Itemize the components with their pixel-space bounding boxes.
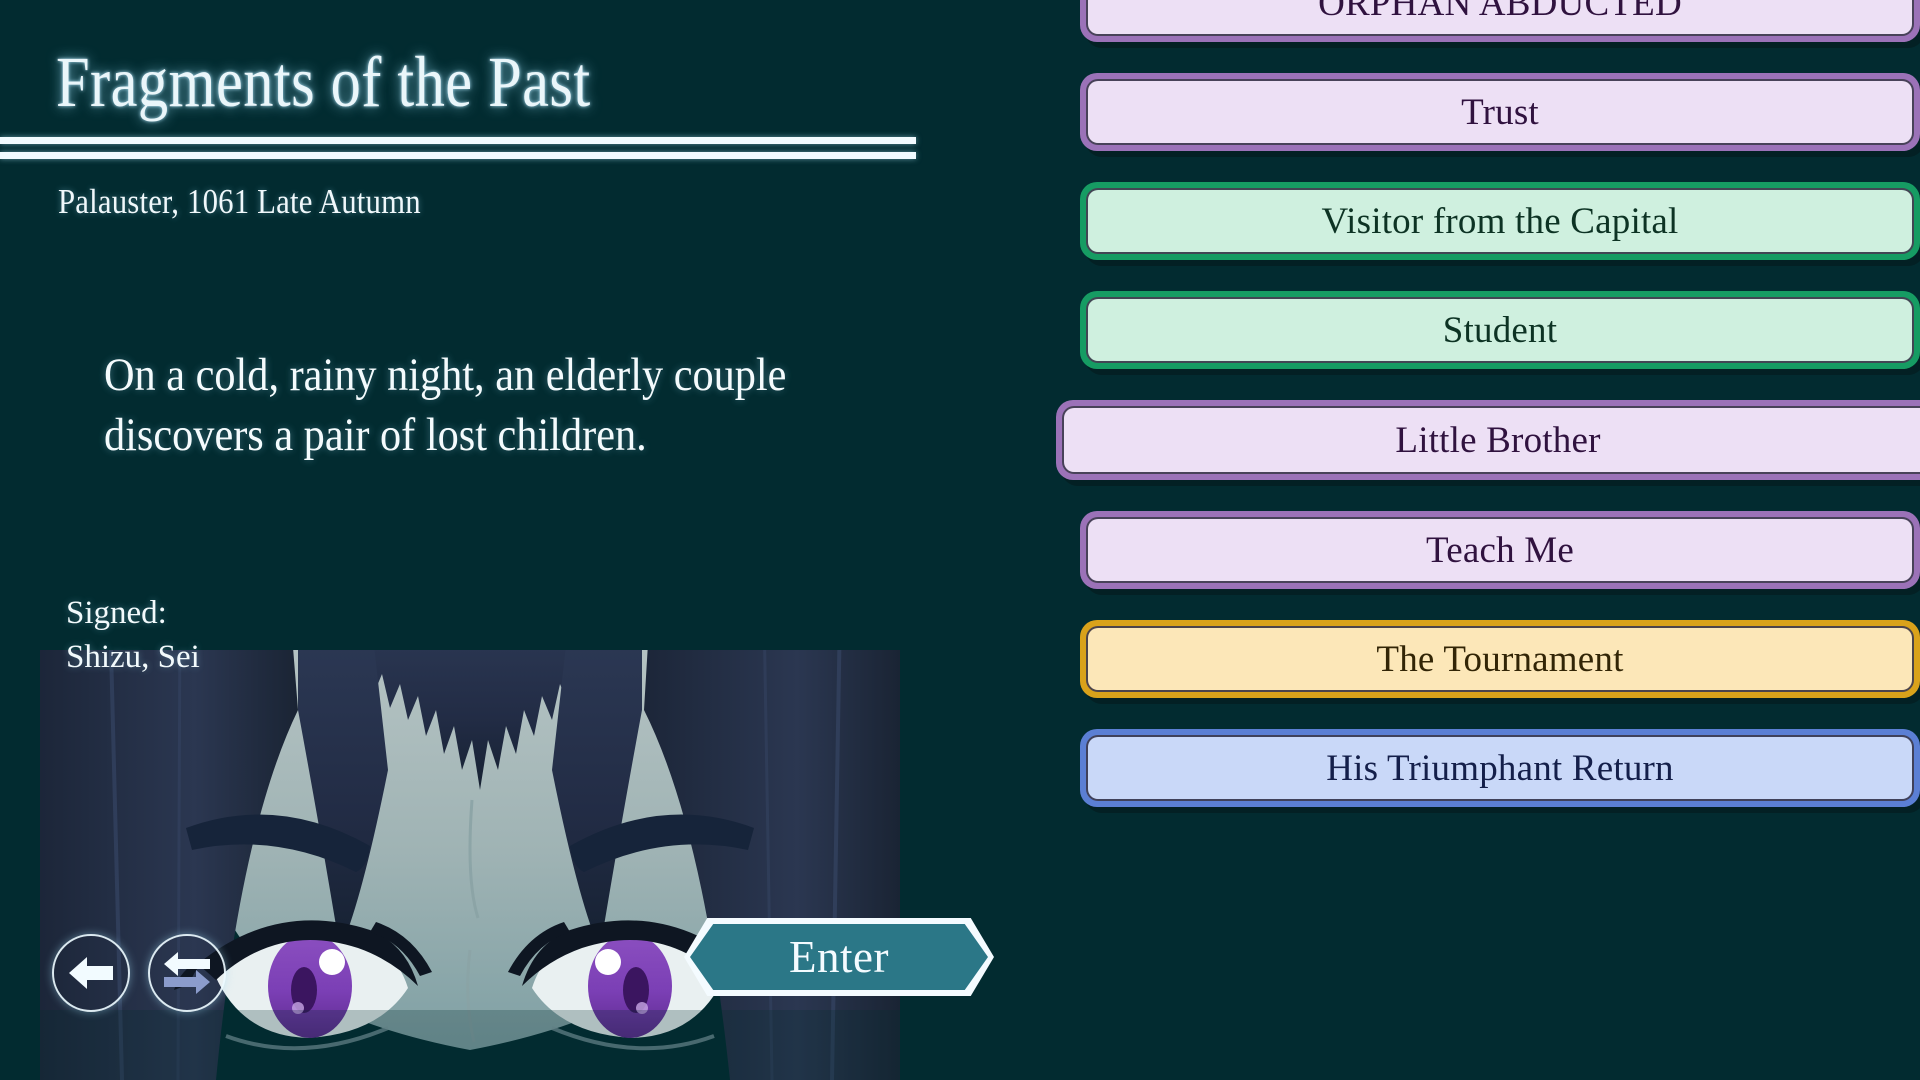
story-body: On a cold, rainy night, an elderly coupl…: [104, 345, 1013, 465]
signature-block: Signed: Shizu, Sei: [66, 592, 200, 680]
choice-button[interactable]: Little Brother: [1056, 400, 1920, 480]
page-title: Fragments of the Past: [56, 46, 591, 118]
choice-button[interactable]: Visitor from the Capital: [1080, 182, 1920, 260]
divider-bar-bottom: [0, 152, 916, 159]
signed-label: Signed:: [66, 592, 200, 636]
title-divider: [0, 137, 916, 159]
choice-button-label: ORPHAN ABDUCTED: [1318, 0, 1682, 25]
choice-button[interactable]: His Triumphant Return: [1080, 729, 1920, 807]
choice-button[interactable]: Teach Me: [1080, 511, 1920, 589]
choice-button-label: Teach Me: [1426, 529, 1574, 572]
signed-names: Shizu, Sei: [66, 636, 200, 680]
choice-button-label: Trust: [1461, 91, 1539, 134]
swap-arrows-icon: [162, 950, 212, 996]
choice-list: ORPHAN ABDUCTEDTrustVisitor from the Cap…: [1080, 0, 1920, 838]
story-body-line-1: On a cold, rainy night, an elderly coupl…: [104, 345, 1013, 405]
choice-button-label: Visitor from the Capital: [1321, 200, 1678, 243]
location-date: Palauster, 1061 Late Autumn: [58, 182, 421, 222]
choice-button[interactable]: Student: [1080, 291, 1920, 369]
choice-button-label: The Tournament: [1376, 638, 1623, 681]
enter-button-label: Enter: [684, 918, 994, 996]
choice-button[interactable]: ORPHAN ABDUCTED: [1080, 0, 1920, 42]
back-button[interactable]: [52, 934, 130, 1012]
choice-button[interactable]: The Tournament: [1080, 620, 1920, 698]
choice-button-label: His Triumphant Return: [1326, 747, 1674, 790]
choice-button-label: Student: [1443, 309, 1557, 352]
divider-bar-top: [0, 137, 916, 144]
skip-history-button[interactable]: [148, 934, 226, 1012]
choice-button-label: Little Brother: [1395, 419, 1600, 462]
choice-button[interactable]: Trust: [1080, 73, 1920, 151]
back-arrow-icon: [67, 953, 115, 993]
story-body-line-2: discovers a pair of lost children.: [104, 405, 1013, 465]
visual-novel-screen: Fragments of the Past Palauster, 1061 La…: [0, 0, 1920, 1080]
enter-button[interactable]: Enter: [684, 918, 994, 996]
